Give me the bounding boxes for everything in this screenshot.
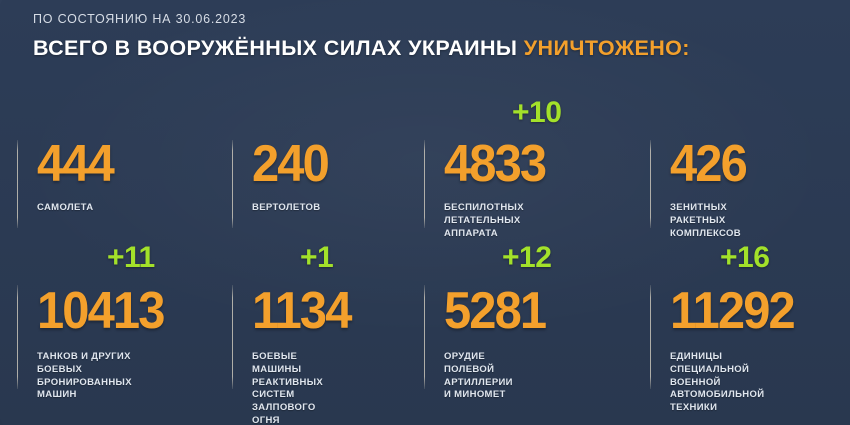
column-divider — [424, 140, 425, 228]
stat-value: 240 — [252, 138, 328, 190]
column-divider — [17, 285, 18, 389]
poster-header: ПО СОСТОЯНИЮ НА 30.06.2023 ВСЕГО В ВООРУ… — [33, 12, 830, 61]
stat-caption: БОЕВЫЕ МАШИНЫ РЕАКТИВНЫХ СИСТЕМ ЗАЛПОВОГ… — [252, 351, 323, 425]
stat-delta: +12 — [502, 243, 551, 273]
stat-caption: ТАНКОВ И ДРУГИХ БОЕВЫХ БРОНИРОВАННЫХ МАШ… — [37, 351, 132, 402]
column-divider — [650, 140, 651, 228]
report-date: ПО СОСТОЯНИЮ НА 30.06.2023 — [33, 12, 830, 27]
stat-value: 1134 — [252, 285, 351, 337]
infographic-poster: ПО СОСТОЯНИЮ НА 30.06.2023 ВСЕГО В ВООРУ… — [0, 0, 850, 425]
column-divider — [650, 285, 651, 389]
column-divider — [232, 140, 233, 228]
stat-delta: +1 — [300, 243, 333, 273]
stat-value: 5281 — [444, 285, 545, 337]
title-accent-text: УНИЧТОЖЕНО: — [524, 36, 690, 60]
poster-title: ВСЕГО В ВООРУЖЁННЫХ СИЛАХ УКРАИНЫ УНИЧТО… — [33, 36, 830, 61]
column-divider — [17, 140, 18, 228]
stat-caption: ЗЕНИТНЫХ РАКЕТНЫХ КОМПЛЕКСОВ — [670, 202, 741, 240]
stat-delta: +16 — [720, 243, 769, 273]
stat-value: 4833 — [444, 138, 545, 190]
stat-caption: ЕДИНИЦЫ СПЕЦИАЛЬНОЙ ВОЕННОЙ АВТОМОБИЛЬНО… — [670, 351, 764, 415]
stats-row-bottom: +1110413ТАНКОВ И ДРУГИХ БОЕВЫХ БРОНИРОВА… — [0, 241, 850, 391]
stats-grid: 444САМОЛЕТА240ВЕРТОЛЕТОВ+104833БЕСПИЛОТН… — [0, 96, 850, 391]
stat-delta: +11 — [107, 243, 155, 273]
stat-value: 11292 — [670, 285, 794, 337]
title-main-text: ВСЕГО В ВООРУЖЁННЫХ СИЛАХ УКРАИНЫ — [33, 36, 517, 60]
stat-caption: ОРУДИЕ ПОЛЕВОЙ АРТИЛЛЕРИИ И МИНОМЕТ — [444, 351, 513, 402]
stat-value: 10413 — [37, 285, 164, 337]
stat-value: 444 — [37, 138, 113, 190]
stat-caption: ВЕРТОЛЕТОВ — [252, 202, 320, 215]
stats-row-top: 444САМОЛЕТА240ВЕРТОЛЕТОВ+104833БЕСПИЛОТН… — [0, 96, 850, 241]
column-divider — [424, 285, 425, 389]
stat-value: 426 — [670, 138, 746, 190]
stat-delta: +10 — [512, 98, 561, 128]
stat-caption: САМОЛЕТА — [37, 202, 93, 215]
column-divider — [232, 285, 233, 389]
stat-caption: БЕСПИЛОТНЫХ ЛЕТАТЕЛЬНЫХ АППАРАТА — [444, 202, 524, 240]
